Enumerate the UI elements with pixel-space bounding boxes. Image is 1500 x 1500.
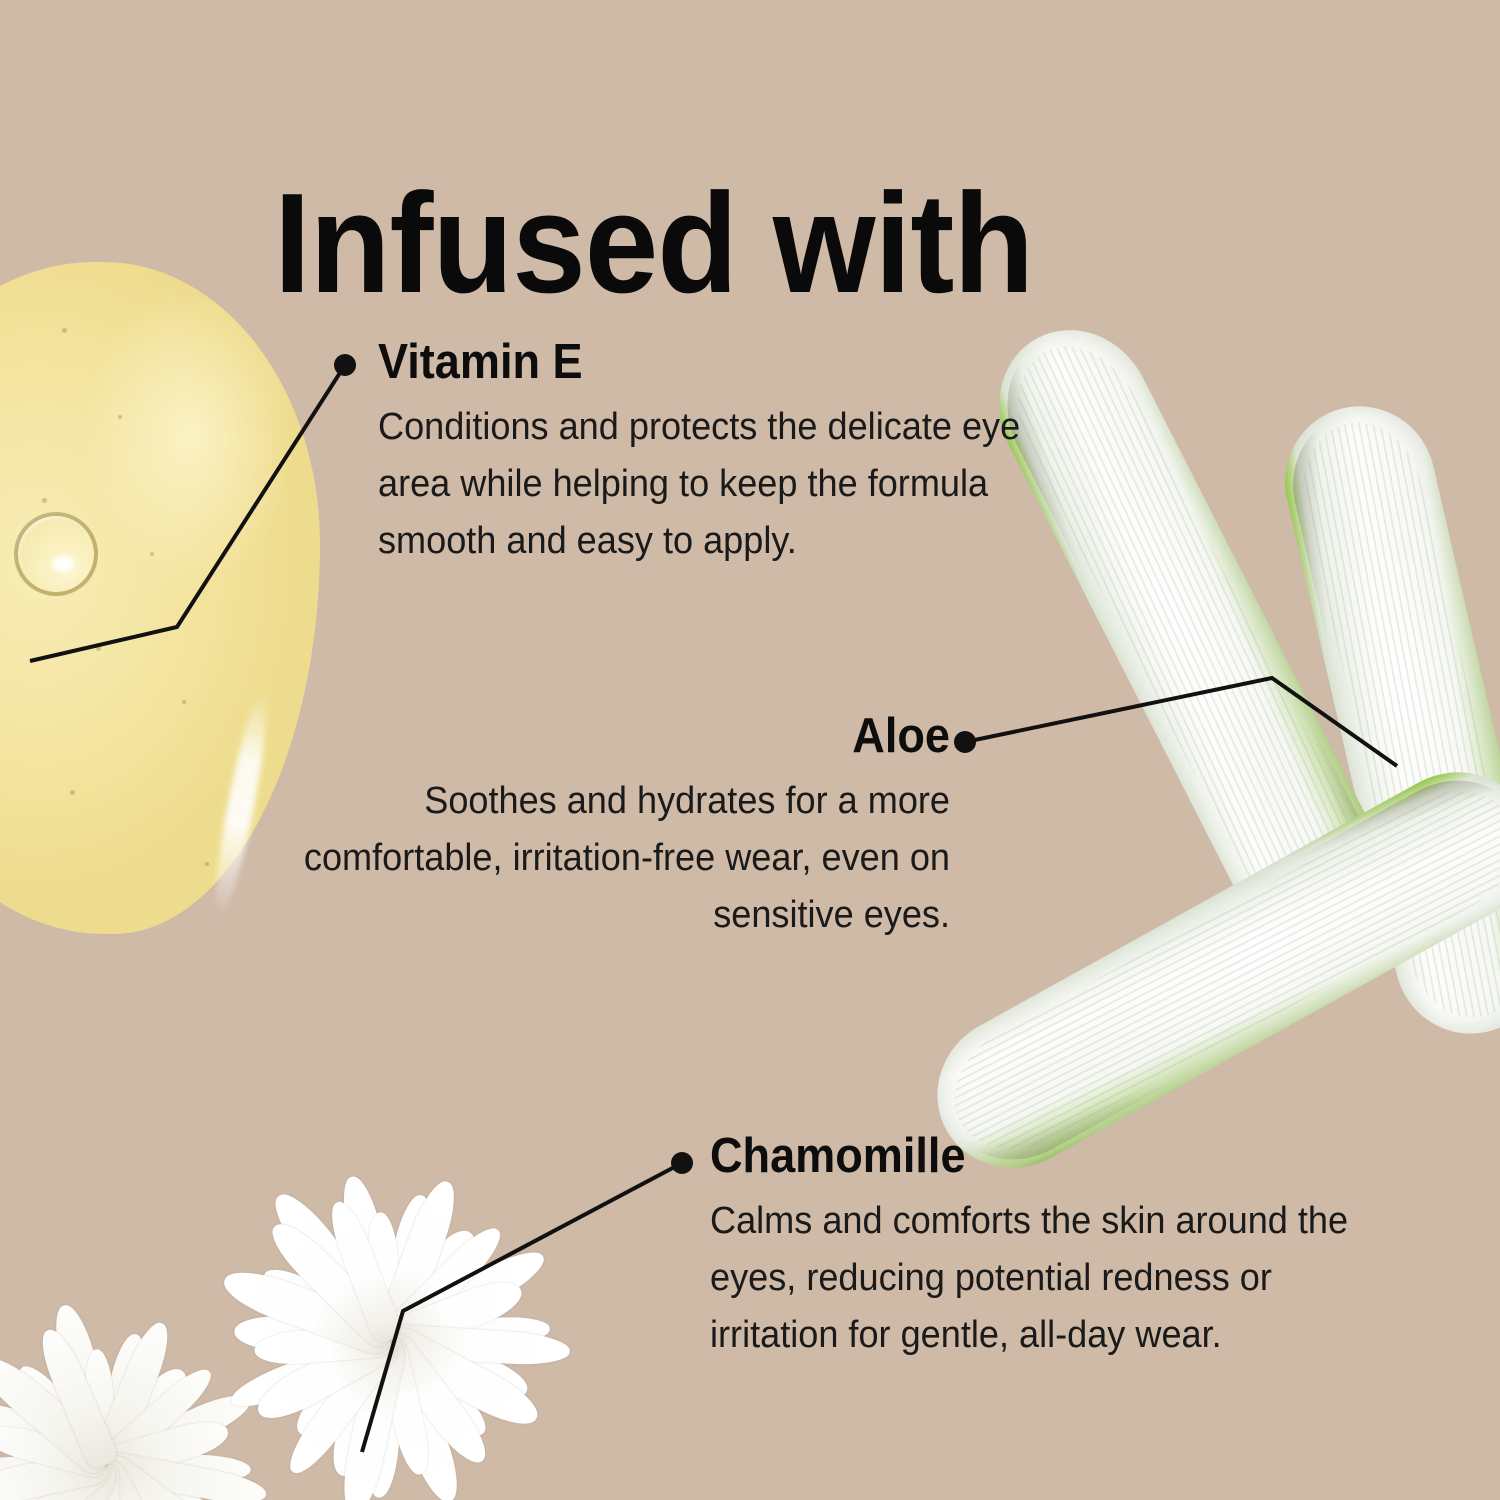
serum-bubble xyxy=(14,512,98,596)
serum-speck xyxy=(96,646,101,651)
serum-speck xyxy=(62,328,67,333)
ingredient-block-vitamin-e: Vitamin E Conditions and protects the de… xyxy=(378,338,1058,570)
ingredient-title-aloe: Aloe xyxy=(323,712,950,761)
ingredient-description-vitamin-e: Conditions and protects the delicate eye… xyxy=(378,399,1024,570)
serum-speck xyxy=(182,700,186,704)
ingredient-description-chamomille: Calms and comforts the skin around the e… xyxy=(710,1193,1366,1364)
page-title: Infused with xyxy=(274,173,1033,315)
chamomile-flower-primary xyxy=(130,1080,650,1500)
ingredient-description-aloe: Soothes and hydrates for a more comforta… xyxy=(302,773,950,944)
serum-speck xyxy=(205,862,209,866)
serum-bubble-highlight xyxy=(52,556,74,572)
ingredient-title-chamomille: Chamomille xyxy=(710,1132,1345,1181)
serum-speck xyxy=(150,552,154,556)
ingredient-block-aloe: Aloe Soothes and hydrates for a more com… xyxy=(268,712,950,944)
serum-speck xyxy=(70,790,75,795)
serum-speck xyxy=(42,498,47,503)
flower-petals xyxy=(130,1080,650,1500)
ingredient-block-chamomille: Chamomille Calms and comforts the skin a… xyxy=(710,1132,1400,1364)
ingredient-title-vitamin-e: Vitamin E xyxy=(378,338,1004,387)
infographic-canvas: Infused with Vitamin E Conditions and pr… xyxy=(0,0,1500,1500)
serum-speck xyxy=(118,415,122,419)
